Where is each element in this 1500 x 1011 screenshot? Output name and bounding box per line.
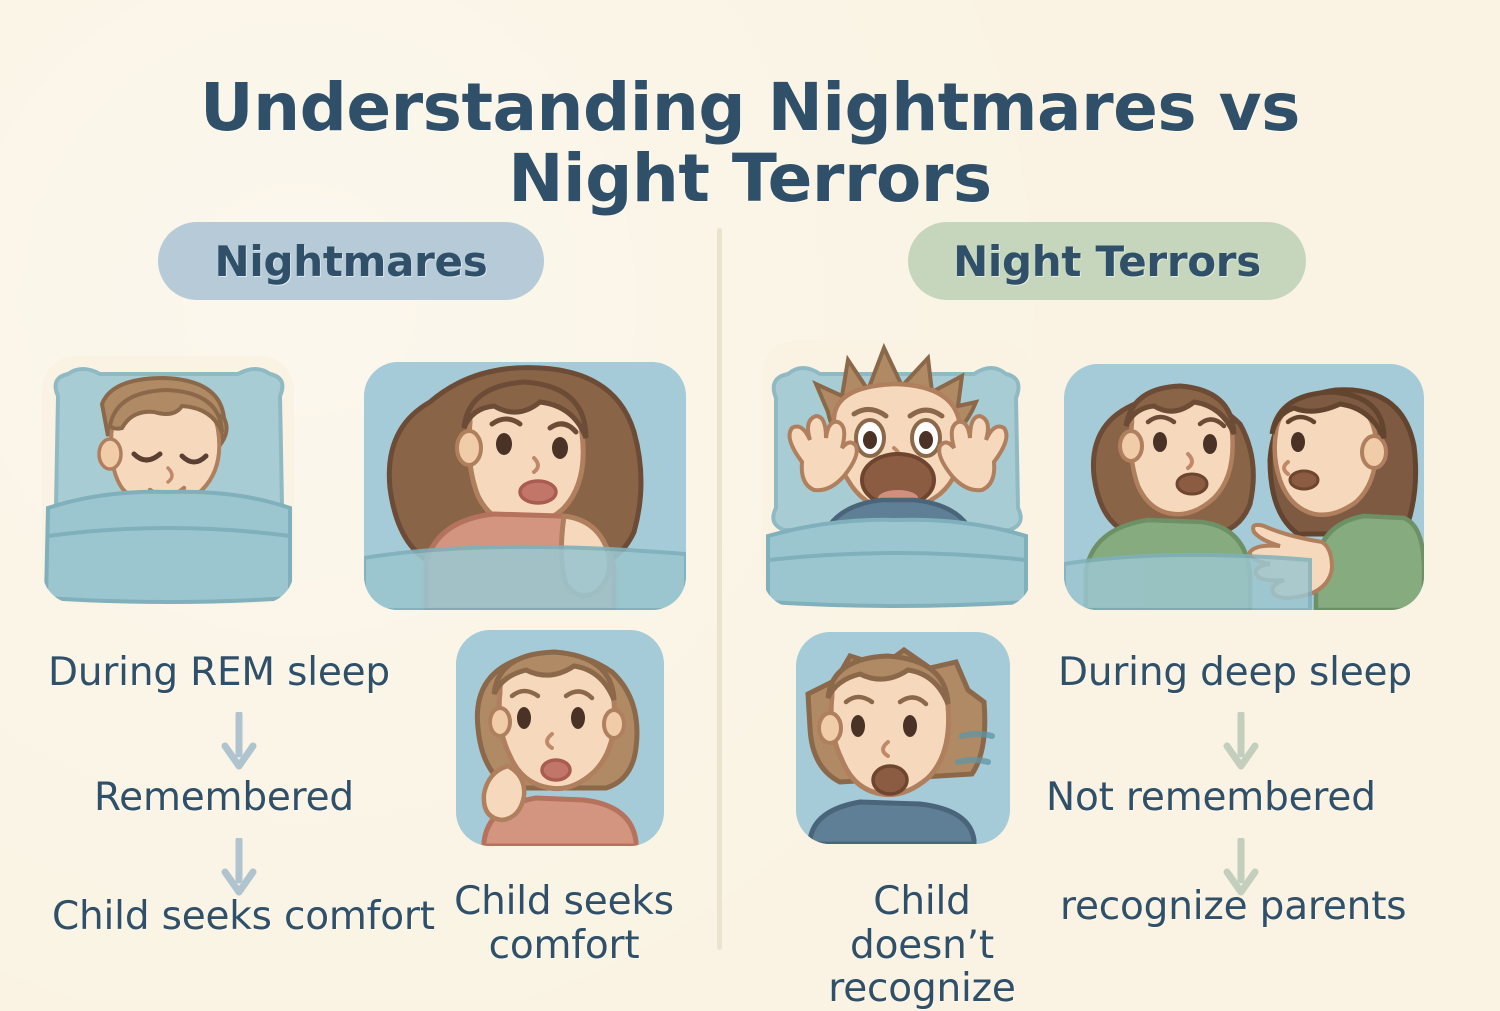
column-divider xyxy=(717,228,722,950)
caption-child-doesnt-recognize: Child doesn’t recognize xyxy=(800,880,1044,1011)
right-flow-step-1: During deep sleep xyxy=(1058,650,1412,695)
left-flow-arrow-1 xyxy=(220,712,258,774)
right-flow-step-2: Not remembered xyxy=(1046,775,1376,820)
illustration-sleeping-child xyxy=(42,356,294,604)
worried-girl-art xyxy=(364,362,686,610)
illustration-worried-girl xyxy=(364,362,686,610)
right-flow-arrow-1 xyxy=(1222,712,1260,774)
category-pill-night-terrors: Night Terrors xyxy=(908,222,1306,300)
screaming-child-art xyxy=(762,340,1032,608)
confused-child-art xyxy=(796,632,1010,844)
worried-parents-art xyxy=(1064,364,1424,610)
left-flow-step-1: During REM sleep xyxy=(48,650,390,695)
caption-recognize-line-2: recognize xyxy=(828,966,1015,1011)
title-line-2: Night Terrors xyxy=(0,143,1500,214)
left-flow-step-3: Child seeks comfort xyxy=(52,894,435,939)
caption-child-seeks-comfort: Child seeks comfort xyxy=(452,880,676,967)
comforted-child-art xyxy=(456,630,664,846)
caption-recognize-line-1: Child doesn’t xyxy=(850,879,994,968)
left-flow-step-2: Remembered xyxy=(94,775,354,820)
caption-comfort-line-1: Child seeks xyxy=(454,879,674,924)
left-flow-arrow-2 xyxy=(220,838,258,900)
caption-comfort-line-2: comfort xyxy=(489,923,640,968)
illustration-confused-child xyxy=(796,632,1010,844)
title-line-1: Understanding Nightmares vs xyxy=(200,69,1300,146)
infographic-canvas: Understanding Nightmares vs Night Terror… xyxy=(0,0,1500,1000)
sleeping-child-art xyxy=(42,356,294,604)
illustration-comforted-child xyxy=(456,630,664,846)
illustration-screaming-child xyxy=(762,340,1032,608)
right-flow-step-3: recognize parents xyxy=(1060,884,1406,929)
page-title: Understanding Nightmares vs Night Terror… xyxy=(0,72,1500,215)
illustration-worried-parents xyxy=(1064,364,1424,610)
category-pill-nightmares: Nightmares xyxy=(158,222,544,300)
